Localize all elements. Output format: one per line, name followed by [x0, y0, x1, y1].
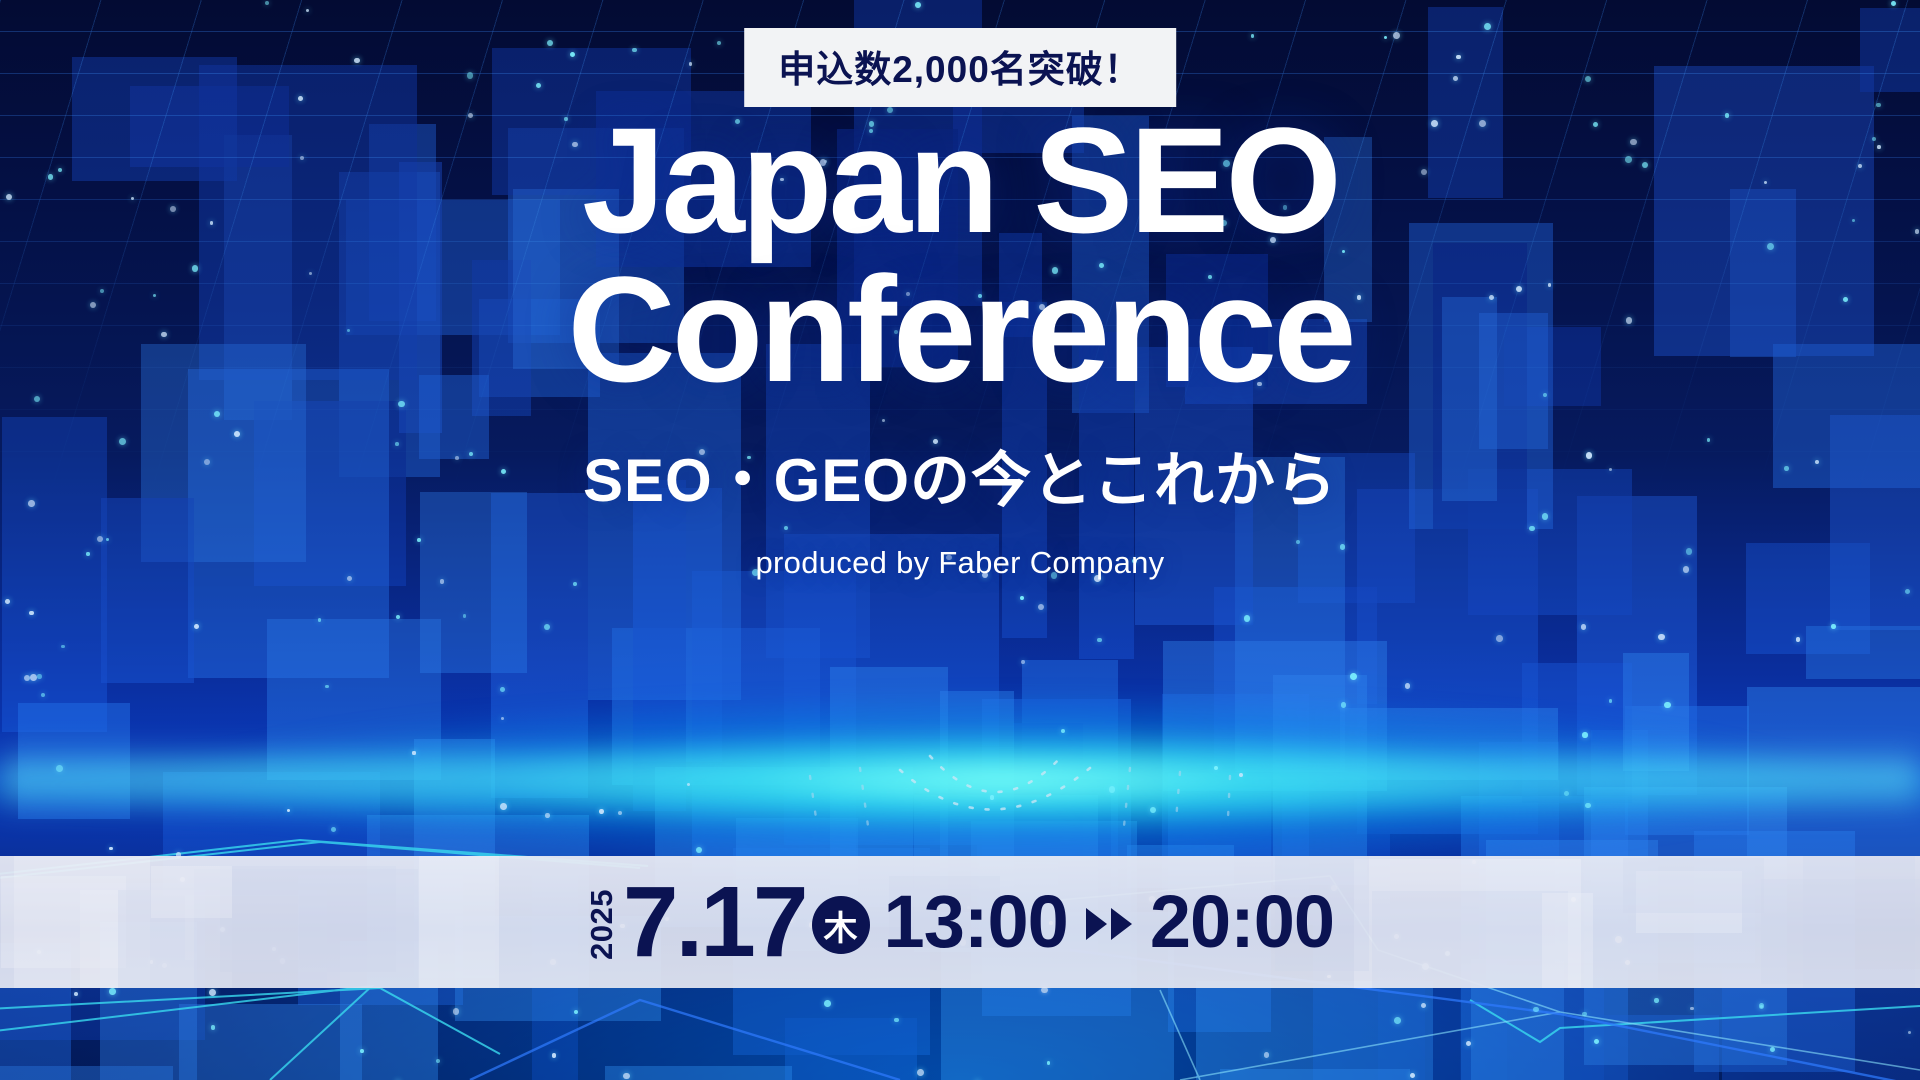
- page-title: Japan SEO Conference: [0, 104, 1920, 406]
- producer-credit: produced by Faber Company: [0, 545, 1920, 581]
- double-triangle-right-icon: [1086, 908, 1132, 940]
- title-line-1: Japan SEO: [582, 96, 1338, 264]
- event-end-time: 20:00: [1150, 885, 1334, 959]
- event-banner: 申込数2,000名突破！ Japan SEO Conference SEO・GE…: [0, 0, 1920, 1080]
- title-line-2: Conference: [0, 253, 1920, 406]
- horizon-glow-streak: [0, 745, 1920, 815]
- event-weekday-badge: 木: [812, 896, 870, 954]
- event-year: 2025: [586, 885, 617, 960]
- date-time-row: 2025 7.17 木 13:00 20:00: [586, 877, 1334, 967]
- announcement-badge: 申込数2,000名突破！: [744, 28, 1176, 107]
- hero-text-block: Japan SEO Conference SEO・GEOの今とこれから prod…: [0, 104, 1920, 581]
- subtitle: SEO・GEOの今とこれから: [0, 432, 1920, 519]
- date-time-bar: 2025 7.17 木 13:00 20:00: [0, 856, 1920, 988]
- event-start-time: 13:00: [884, 885, 1068, 959]
- event-month-day: 7.17: [623, 877, 806, 967]
